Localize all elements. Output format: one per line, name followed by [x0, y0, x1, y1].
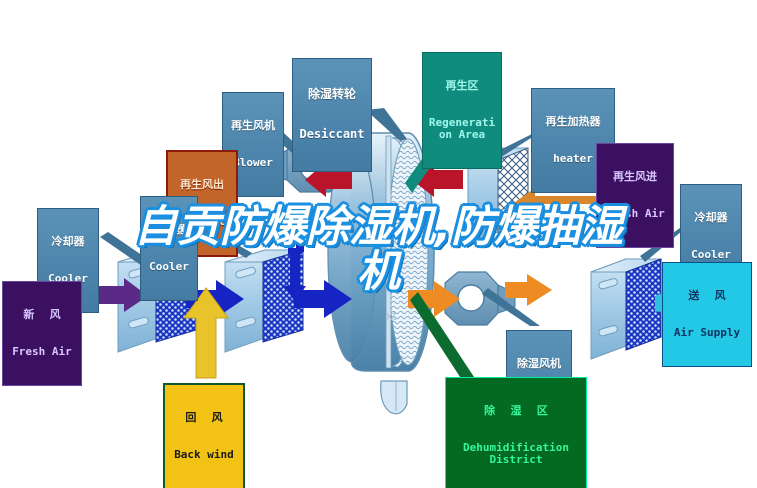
label-air-supply-en: Air Supply — [667, 327, 747, 339]
rotor-faint-text: xt — [386, 308, 397, 323]
label-dehumidification-district-en: Dehumidification District — [450, 442, 582, 467]
label-fresh-air-en: Fresh Air — [7, 346, 77, 358]
label-desiccant-wheel-en: Desiccant — [297, 128, 367, 141]
label-dehumidification-district-cn: 除 湿 区 — [450, 405, 582, 417]
label-regeneration-fresh-air-en: Fresh Air — [601, 208, 669, 220]
label-regeneration-fresh-air-cn: 再生风进 — [601, 171, 669, 183]
label-cooler-middle-en: Cooler — [145, 261, 193, 273]
label-cooler-right-en: Cooler — [685, 249, 737, 261]
label-regeneration-area-cn: 再生区 — [427, 80, 497, 92]
label-cooler-middle: 冷却器 Cooler — [140, 196, 198, 301]
label-back-wind-cn: 回 风 — [169, 412, 239, 424]
cooler-unit-right — [591, 259, 661, 359]
label-regeneration-heater-cn: 再生加热器 — [536, 116, 610, 128]
label-desiccant-wheel: 除湿转轮 Desiccant — [292, 58, 372, 172]
arrow-upper-blue-duct — [296, 240, 304, 252]
label-air-supply: 送 风 Air Supply — [662, 262, 752, 367]
label-cooler-left-cn: 冷却器 — [42, 236, 94, 248]
label-dehumidification-district: 除 湿 区 Dehumidification District — [445, 377, 587, 488]
label-back-wind: 回 风 Back wind — [163, 383, 245, 488]
label-cooler-right-cn: 冷却器 — [685, 212, 737, 224]
label-regeneration-area-en: Regenerati on Area — [427, 117, 497, 142]
label-desiccant-wheel-cn: 除湿转轮 — [297, 88, 367, 101]
label-regeneration-area: 再生区 Regenerati on Area — [422, 52, 502, 169]
label-fresh-air-cn: 新 风 — [7, 309, 77, 321]
diagram-canvas: xt — [0, 0, 757, 488]
label-air-supply-cn: 送 风 — [667, 290, 747, 302]
label-cooler-middle-cn: 冷却器 — [145, 224, 193, 236]
label-fresh-air: 新 风 Fresh Air — [2, 281, 82, 386]
label-back-wind-en: Back wind — [169, 449, 239, 461]
label-regeneration-fresh-air: 再生风进 Fresh Air — [596, 143, 674, 248]
label-regeneration-blower-cn: 再生风机 — [227, 120, 279, 132]
label-dehumidification-blower-cn: 除湿风机 — [511, 358, 567, 370]
label-regeneration-exhaust-cn: 再生风出 — [172, 179, 232, 191]
